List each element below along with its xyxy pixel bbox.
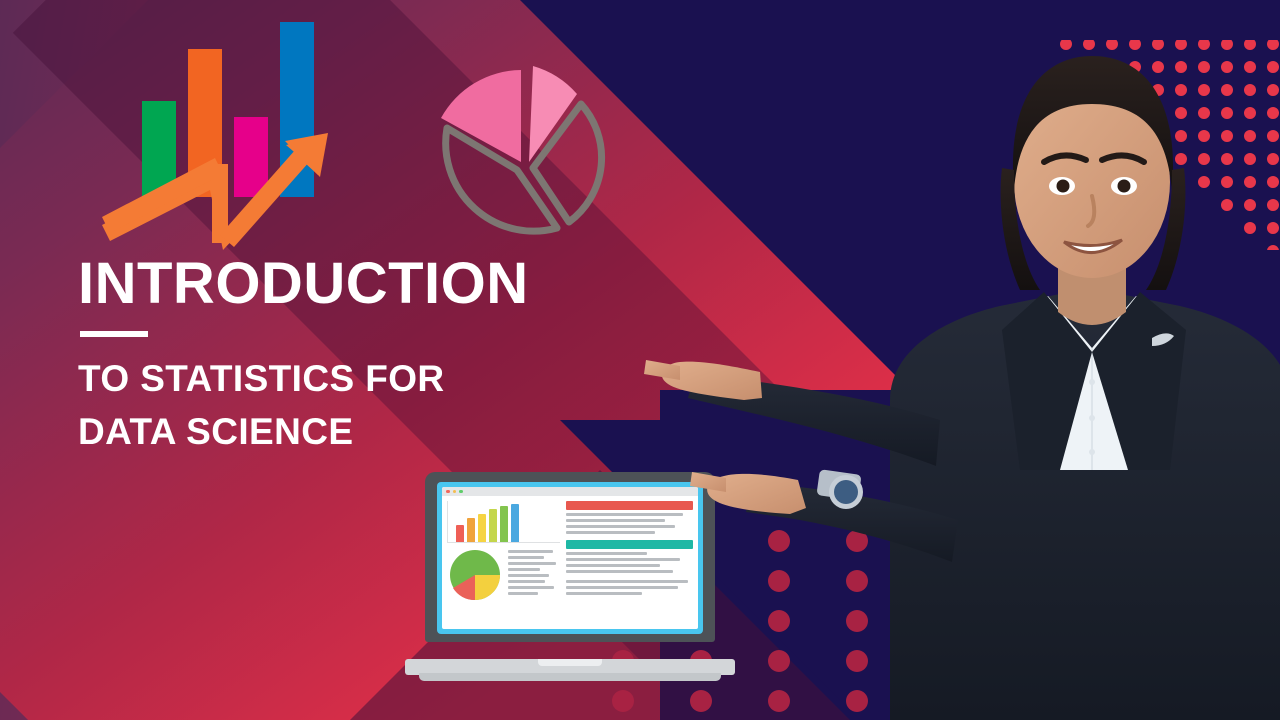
presenter-photo [640, 0, 1280, 720]
pie-chart-icon [425, 50, 625, 235]
dashboard-bar [489, 509, 497, 542]
dashboard-text-lines-left [508, 547, 560, 624]
dashboard-bar [478, 514, 486, 543]
dashboard-bar [500, 506, 508, 542]
page-title: INTRODUCTION [78, 255, 638, 313]
window-dot-green [459, 490, 463, 494]
dashboard-bar [456, 525, 464, 542]
growth-bar-chart-icon [100, 45, 350, 255]
dashboard-pie-chart [447, 547, 503, 603]
window-dot-yellow [453, 490, 457, 494]
subtitle-line-2: DATA SCIENCE [78, 406, 638, 459]
title-block: INTRODUCTION TO STATISTICS FOR DATA SCIE… [78, 255, 638, 458]
eye-left [1057, 180, 1070, 193]
slide-canvas: INTRODUCTION TO STATISTICS FOR DATA SCIE… [0, 0, 1280, 720]
window-dot-red [446, 490, 450, 494]
laptop-trackpad-notch [538, 659, 602, 666]
dashboard-bar-chart [447, 501, 560, 543]
dashboard-bar [511, 504, 519, 542]
growth-arrow-icon [100, 45, 350, 255]
title-divider [80, 331, 148, 337]
dot [612, 690, 634, 712]
dashboard-bar [467, 518, 475, 542]
eye-right [1118, 180, 1131, 193]
index-finger-lower [690, 472, 726, 492]
subtitle-line-1: TO STATISTICS FOR [78, 353, 638, 406]
